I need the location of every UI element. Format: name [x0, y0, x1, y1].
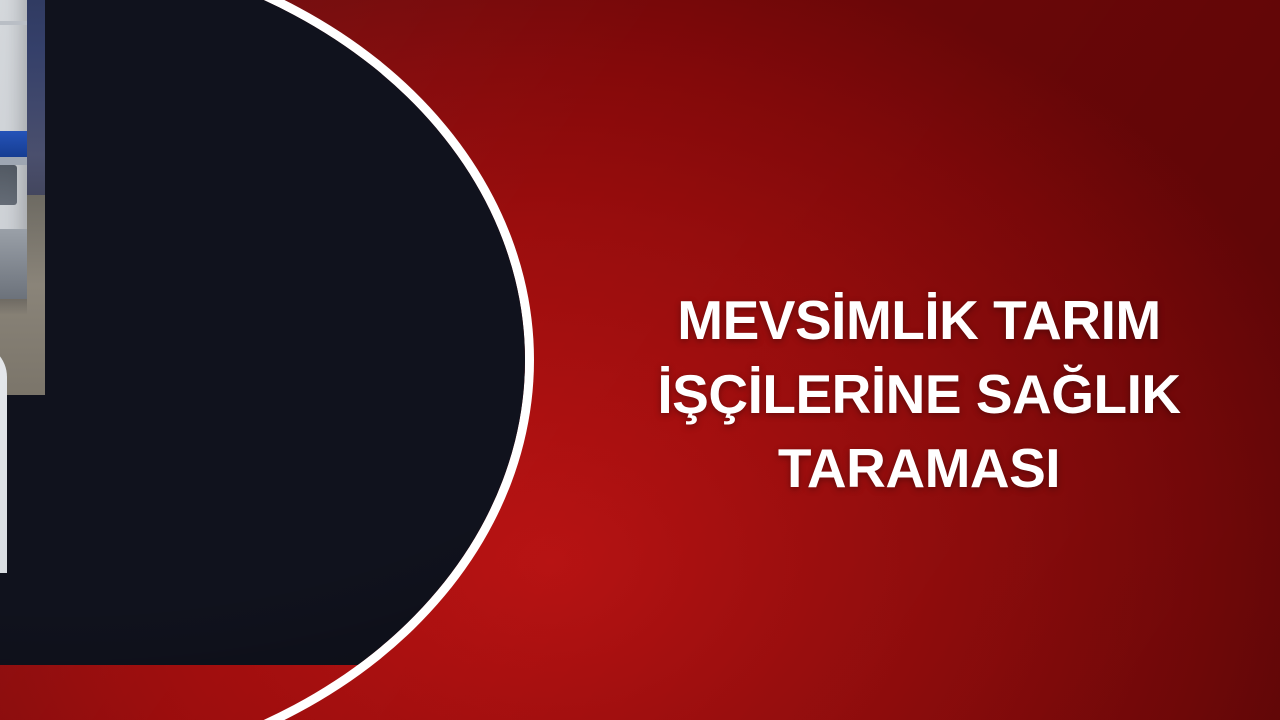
page-title: MEVSİMLİK TARIM İŞÇİLERİNE SAĞLIK TARAMA…	[596, 283, 1242, 505]
news-banner: C KECIOREN SAGLIK NOKTASI	[0, 0, 1280, 720]
photo-vignette	[0, 0, 525, 665]
photograph: C KECIOREN SAGLIK NOKTASI	[0, 0, 525, 665]
circular-photo-frame: C KECIOREN SAGLIK NOKTASI	[0, 0, 525, 720]
